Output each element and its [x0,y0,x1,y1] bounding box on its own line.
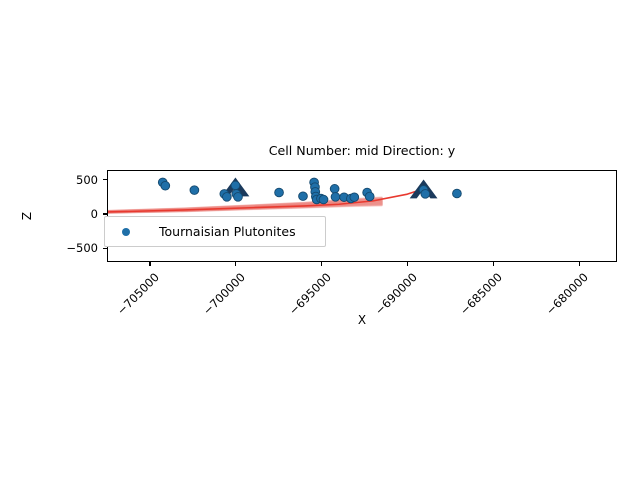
scatter-point [331,193,340,202]
x-tick-mark [235,262,236,266]
x-tick-mark [149,262,150,266]
scatter-point [234,193,243,202]
scatter-point [365,192,374,201]
y-tick-label: 0 [40,207,98,221]
scatter-point [222,193,231,202]
x-tick-mark [493,262,494,266]
scatter-point [231,181,240,190]
y-tick-label: −500 [40,241,98,255]
legend-label: Tournaisian Plutonites [159,224,296,239]
chart-title: Cell Number: mid Direction: y [107,143,617,158]
scatter-point [421,190,430,199]
y-tick-label: 500 [40,173,98,187]
scatter-point [350,193,359,202]
legend-box[interactable]: Tournaisian Plutonites [104,216,326,247]
scatter-point [190,186,199,195]
figure-canvas: Cell Number: mid Direction: y Z X −50005… [0,0,640,480]
x-tick-mark [579,262,580,266]
scatter-point [319,195,328,204]
scatter-point [275,188,284,197]
y-axis-label: Z [20,212,34,220]
x-tick-mark [321,262,322,266]
scatter-point [299,192,308,201]
scatter-point [161,181,170,190]
legend-marker-icon [122,228,130,236]
scatter-point [330,184,339,193]
x-tick-mark [407,262,408,266]
scatter-point [453,189,462,198]
